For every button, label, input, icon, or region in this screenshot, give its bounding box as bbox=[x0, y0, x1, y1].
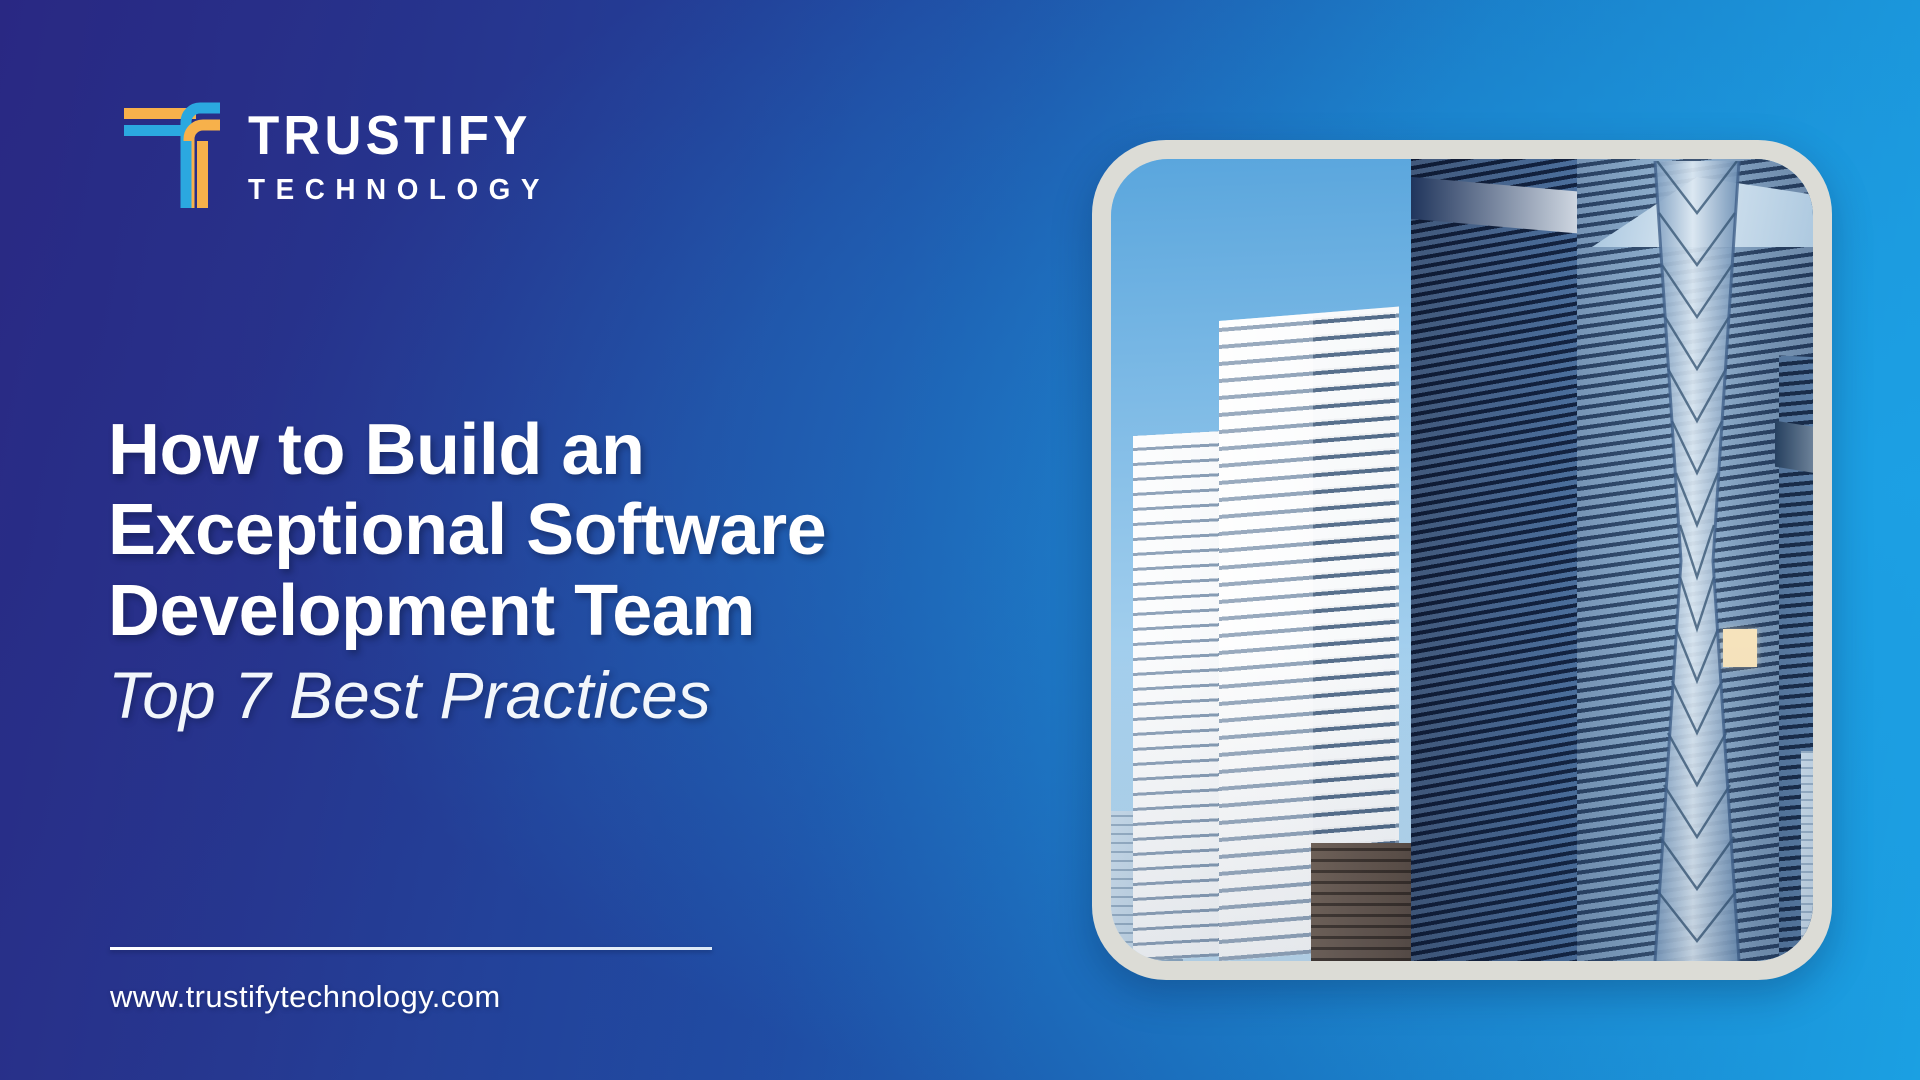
headline-line-3: Development Team bbox=[108, 571, 1068, 651]
promo-banner: TRUSTIFY TECHNOLOGY How to Build an Exce… bbox=[0, 0, 1920, 1080]
website-url[interactable]: www.trustifytechnology.com bbox=[110, 979, 501, 1015]
headline-line-2: Exceptional Software bbox=[108, 490, 1068, 570]
hero-image bbox=[1111, 159, 1813, 961]
headline-block: How to Build an Exceptional Software Dev… bbox=[108, 410, 1068, 735]
lit-window-accent bbox=[1723, 629, 1757, 667]
hero-image-card bbox=[1092, 140, 1832, 980]
building-far-right bbox=[1801, 751, 1813, 961]
building-lattice-spine bbox=[1651, 161, 1743, 961]
trustify-tt-monogram-icon bbox=[122, 100, 222, 208]
footer-divider bbox=[110, 947, 712, 950]
brand-name: TRUSTIFY bbox=[248, 108, 541, 163]
brand-logo[interactable]: TRUSTIFY TECHNOLOGY bbox=[122, 100, 563, 208]
building-white-left bbox=[1133, 431, 1229, 961]
brand-subtitle: TECHNOLOGY bbox=[248, 176, 550, 205]
headline-line-1: How to Build an bbox=[108, 410, 1068, 490]
headline-subtitle: Top 7 Best Practices bbox=[108, 657, 1068, 735]
brand-wordmark: TRUSTIFY TECHNOLOGY bbox=[248, 100, 563, 205]
